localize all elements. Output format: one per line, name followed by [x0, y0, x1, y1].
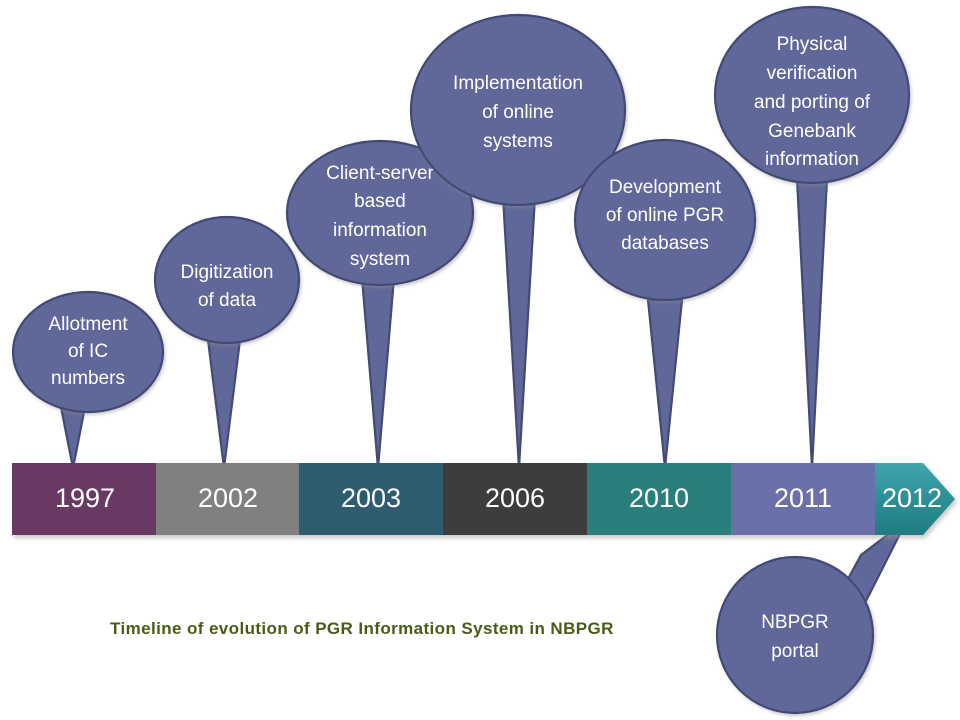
- callout-tail-2006: [502, 180, 536, 468]
- callout-line: systems: [483, 131, 553, 152]
- callout-line: of data: [198, 290, 257, 311]
- callout-bubble-2002[interactable]: Digitization of data: [155, 217, 299, 343]
- callout-line: Genebank: [768, 121, 856, 142]
- callout-line: numbers: [51, 368, 125, 389]
- callout-line: portal: [771, 641, 819, 662]
- callout-line: of online: [482, 102, 554, 123]
- year-label-2011: 2011: [774, 483, 832, 513]
- year-label-2010: 2010: [629, 483, 689, 513]
- timeline-diagram: 1997 2002 2003 2006 2010 2011 2012 Allot…: [0, 0, 960, 720]
- callout-line: Physical: [777, 34, 848, 55]
- callout-tail-2002: [208, 340, 240, 468]
- callout-tail-2010: [648, 300, 682, 468]
- callout-line: and porting of: [754, 92, 871, 113]
- callout-line: based: [354, 191, 406, 212]
- callout-tail-2011: [796, 160, 828, 468]
- callout-line: Implementation: [453, 73, 583, 94]
- callout-line: verification: [767, 63, 858, 84]
- callout-line: of online PGR: [606, 205, 724, 226]
- callout-line: Client-server: [326, 163, 434, 184]
- callout-bubble-2012[interactable]: NBPGR portal: [717, 557, 873, 713]
- year-label-2003: 2003: [341, 483, 401, 513]
- callout-line: Development: [609, 177, 722, 198]
- callout-bubble-2011[interactable]: Physical verification and porting of Gen…: [715, 7, 909, 183]
- timeline-figure: 1997 2002 2003 2006 2010 2011 2012 Allot…: [0, 0, 960, 720]
- callout-line: Allotment: [48, 314, 128, 335]
- callout-line: information: [765, 149, 859, 170]
- year-label-2006: 2006: [485, 483, 545, 513]
- callout-line: databases: [621, 233, 709, 254]
- callout-line: Digitization: [181, 262, 274, 283]
- callout-line: information: [333, 220, 427, 241]
- year-label-1997: 1997: [55, 483, 115, 513]
- callout-bubble-1997[interactable]: Allotment of IC numbers: [13, 292, 163, 412]
- figure-caption: Timeline of evolution of PGR Information…: [110, 619, 614, 638]
- callout-line: of IC: [68, 341, 108, 362]
- year-label-2002: 2002: [198, 483, 258, 513]
- callout-bubble-2010[interactable]: Development of online PGR databases: [575, 140, 755, 300]
- year-label-2012: 2012: [882, 483, 942, 513]
- callout-tail-2003: [362, 278, 394, 468]
- callout-line: NBPGR: [761, 612, 829, 633]
- callout-line: system: [350, 249, 410, 270]
